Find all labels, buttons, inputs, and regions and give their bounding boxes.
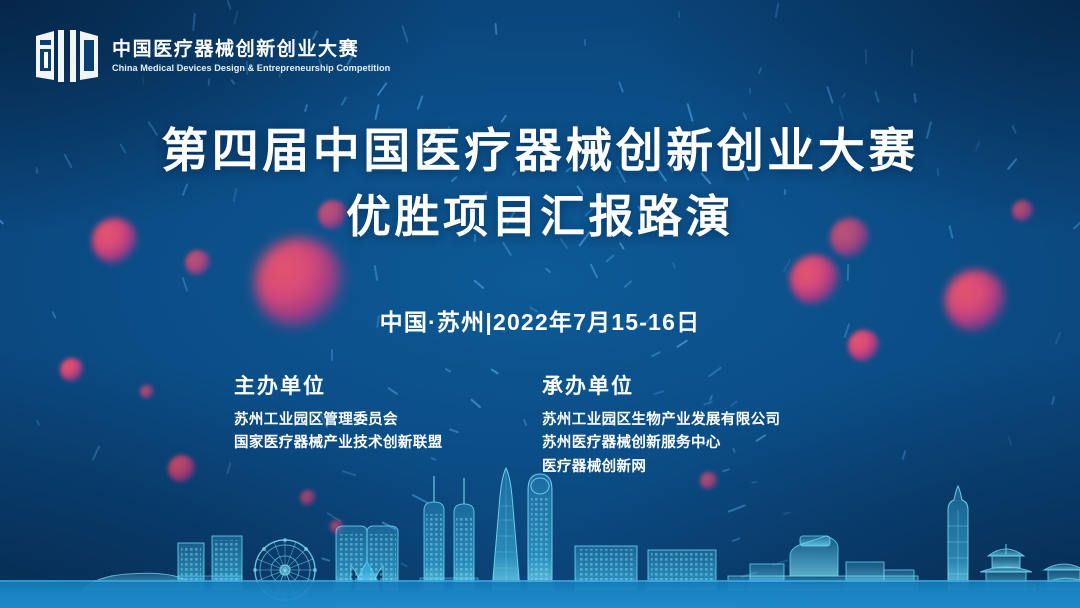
ferris-wheel [253, 538, 317, 602]
dash-particle [838, 105, 843, 120]
logo-english-name: China Medical Devices Design & Entrepren… [112, 63, 390, 75]
dash-particle [233, 10, 239, 25]
dash-particle [374, 265, 378, 282]
dash-particle [847, 264, 849, 281]
dash-particle [412, 494, 429, 504]
dash-particle [774, 3, 778, 18]
dash-particle [731, 537, 740, 542]
dash-particle [326, 513, 341, 523]
logo-chinese-name: 中国医疗器械创新创业大赛 [112, 39, 392, 61]
title-line-1: 第四届中国医疗器械创新创业大赛 [0, 123, 1080, 178]
dash-particle [303, 104, 307, 112]
dash-particle [687, 103, 694, 121]
organizer-section: 主办单位 苏州工业园区管理委员会 国家医疗器械产业技术创新联盟 承办单位 苏州工… [0, 370, 1080, 479]
twin-spire-towers [420, 476, 478, 590]
logo-wordmark: 中国医疗器械创新创业大赛 China Medical Devices Desig… [112, 39, 392, 74]
poster-title-group: 第四届中国医疗器械创新创业大赛 优胜项目汇报路演 [0, 123, 1080, 244]
event-location-date: 中国·苏州|2022年7月15-16日 [0, 303, 1080, 337]
dash-particle [500, 115, 506, 123]
ground-strip [0, 582, 1080, 608]
event-poster: 中国医疗器械创新创业大赛 China Medical Devices Desig… [0, 0, 1080, 608]
twin-low-towers [178, 536, 242, 590]
organizer-line: 苏州工业园区管理委员会 [234, 409, 530, 432]
organizer-line: 苏州医疗器械创新服务中心 [542, 432, 860, 455]
temple-pavilion [976, 544, 1036, 590]
tall-tapered-tower [492, 468, 520, 590]
dash-particle [589, 264, 597, 279]
pagoda [948, 486, 968, 590]
dash-particle [675, 340, 687, 349]
competition-logo: 中国医疗器械创新创业大赛 China Medical Devices Desig… [34, 28, 392, 86]
dash-particle [741, 572, 758, 578]
dash-particle [382, 521, 397, 530]
gate-of-the-orient [336, 526, 398, 590]
dash-particle [672, 262, 676, 269]
dash-particle [618, 81, 624, 92]
dash-particle [742, 112, 747, 120]
ancient-gate [1040, 564, 1080, 590]
dash-particle [473, 279, 484, 289]
open-book-door-logo-icon [34, 28, 100, 86]
floating-crescent-orb [185, 250, 211, 276]
dash-particle [494, 23, 497, 35]
cylindrical-tower [528, 474, 552, 590]
dash-particle [842, 92, 847, 98]
dash-particle [181, 277, 187, 292]
dash-particle [226, 0, 231, 10]
dash-particle [772, 559, 789, 566]
organizer-column-undertaker: 承办单位 苏州工业园区生物产业发展有限公司 苏州医疗器械创新服务中心 医疗器械创… [530, 370, 860, 479]
dash-particle [757, 67, 762, 74]
dash-particle [874, 91, 879, 103]
title-line-2: 优胜项目汇报路演 [0, 190, 1080, 243]
grid-block-a [575, 546, 637, 590]
grid-block-b [648, 550, 716, 590]
dash-particle [651, 351, 661, 357]
dash-particle [678, 11, 680, 18]
dash-particle [545, 268, 551, 274]
dash-particle [502, 242, 512, 256]
dash-particle [584, 39, 586, 46]
dash-particle [340, 96, 346, 105]
dash-particle [321, 557, 331, 561]
organizer-line: 国家医疗器械产业技术创新联盟 [234, 432, 530, 455]
dash-particle [416, 95, 422, 110]
dash-particle [826, 87, 833, 105]
organizer-line: 苏州工业园区生物产业发展有限公司 [542, 409, 860, 432]
organizer-column-host: 主办单位 苏州工业园区管理委员会 国家医疗器械产业技术创新联盟 [220, 370, 530, 479]
dash-particle [783, 259, 791, 273]
dash-particle [375, 104, 380, 120]
floating-crescent-orb [300, 490, 316, 506]
dash-particle [402, 25, 409, 43]
dash-particle [400, 562, 408, 567]
floating-crescent-orb [790, 255, 840, 305]
floating-crescent-orb [330, 520, 344, 534]
dash-particle [785, 102, 792, 113]
dash-particle [751, 480, 758, 483]
low-waterfront-hall [82, 573, 190, 590]
dash-particle [976, 282, 981, 294]
organizer-heading: 主办单位 [234, 370, 530, 400]
organizer-heading: 承办单位 [542, 370, 860, 400]
exhibition-hall [728, 536, 918, 590]
dash-particle [748, 88, 750, 94]
dash-particle [783, 511, 791, 515]
dash-particle [606, 254, 615, 262]
dash-particle [865, 49, 867, 64]
dash-particle [913, 93, 916, 103]
dash-particle [623, 280, 632, 288]
dash-particle [377, 599, 395, 607]
dash-particle [911, 49, 913, 66]
ground-line [0, 580, 1080, 582]
bridge [1034, 578, 1080, 590]
dash-particle [331, 349, 333, 361]
dash-particle [728, 504, 746, 512]
organizer-line: 医疗器械创新网 [542, 456, 860, 479]
